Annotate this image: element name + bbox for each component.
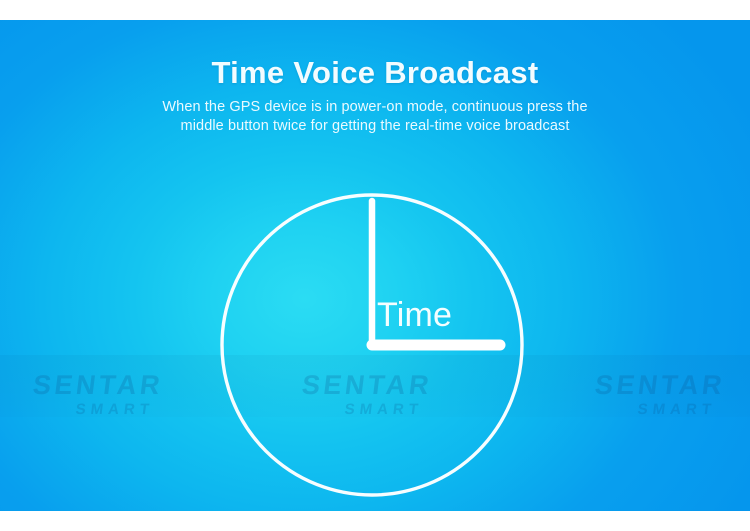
- header-block: Time Voice Broadcast When the GPS device…: [0, 20, 750, 135]
- subtitle-line-1: When the GPS device is in power-on mode,…: [0, 98, 750, 117]
- subtitle-line-2: middle button twice for getting the real…: [0, 117, 750, 136]
- clock-time-label: Time: [377, 298, 452, 332]
- page-title: Time Voice Broadcast: [0, 20, 750, 88]
- slide-canvas: Time SENTAR SMART SENTAR SMART SENTAR SM…: [0, 0, 750, 531]
- page-subtitle: When the GPS device is in power-on mode,…: [0, 88, 750, 135]
- blue-background-panel: Time SENTAR SMART SENTAR SMART SENTAR SM…: [0, 20, 750, 511]
- clock-graphic: [216, 189, 528, 501]
